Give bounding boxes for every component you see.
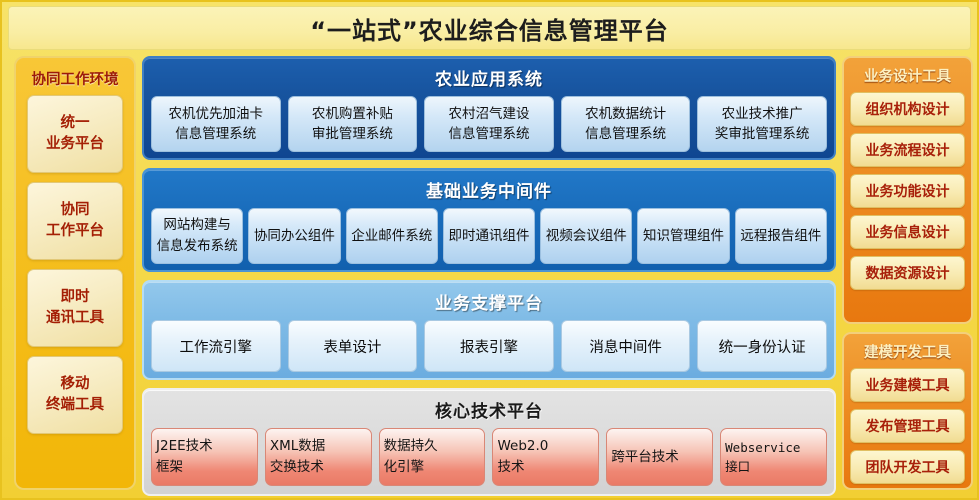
- layer-item-unified-identity-auth[interactable]: 统一身份认证: [697, 320, 827, 372]
- right-group-title: 建模开发工具: [850, 337, 965, 368]
- right-item-label: 数据资源设计: [866, 263, 950, 283]
- sidebar-item-mobile-terminal-tool[interactable]: 移动 终端工具: [27, 356, 123, 434]
- item-label-line1: 数据持久: [384, 436, 481, 457]
- layer-item-workflow-engine[interactable]: 工作流引擎: [151, 320, 281, 372]
- layer-item-tech-extension-award-system[interactable]: 农业技术推广 奖审批管理系统: [697, 96, 827, 152]
- item-label-line1: 农机优先加油卡: [169, 104, 264, 124]
- item-label-line1: 远程报告组件: [740, 226, 821, 247]
- item-label: 工作流引擎: [180, 336, 253, 357]
- sidebar-item-label-line1: 协同: [61, 200, 90, 221]
- sidebar-item-label-line2: 工作平台: [46, 221, 104, 242]
- layer-item-enterprise-mail-system[interactable]: 企业邮件系统: [346, 208, 438, 264]
- layer-title: 业务支撑平台: [151, 285, 827, 320]
- item-label-line1: 协同办公组件: [254, 226, 335, 247]
- sidebar-item-label-line1: 即时: [61, 287, 90, 308]
- item-label-line1: 网站构建与: [163, 215, 231, 236]
- item-label: 消息中间件: [589, 336, 662, 357]
- right-item-data-resource-design[interactable]: 数据资源设计: [850, 256, 965, 290]
- right-sidebar: 业务设计工具 组织机构设计 业务流程设计 业务功能设计 业务信息设计 数据资源设…: [842, 56, 973, 490]
- layer-item-data-persistence-engine[interactable]: 数据持久 化引擎: [379, 428, 486, 486]
- item-label-line1: 农机数据统计: [585, 104, 666, 124]
- left-sidebar-collaborative-environment: 协同工作环境 统一 业务平台 协同 工作平台 即时 通讯工具 移动 终端工具: [14, 56, 136, 490]
- right-group-title: 业务设计工具: [850, 61, 965, 92]
- layer-item-cross-platform-technology[interactable]: 跨平台技术: [606, 428, 713, 486]
- item-label-line1: 视频会议组件: [546, 226, 627, 247]
- layer-item-web20-technology[interactable]: Web2.0 技术: [492, 428, 599, 486]
- layer-agriculture-application-systems: 农业应用系统 农机优先加油卡 信息管理系统 农机购置补贴 审批管理系统 农村沼气…: [142, 56, 836, 160]
- item-label-line1: J2EE技术: [156, 436, 253, 457]
- layer-title: 农业应用系统: [151, 61, 827, 96]
- sidebar-item-label-line2: 通讯工具: [46, 308, 104, 329]
- item-label-line1: 即时通讯组件: [448, 226, 529, 247]
- right-item-org-structure-design[interactable]: 组织机构设计: [850, 92, 965, 126]
- item-label-line2: 信息发布系统: [157, 236, 238, 257]
- right-item-label: 团队开发工具: [866, 457, 950, 477]
- right-item-business-process-design[interactable]: 业务流程设计: [850, 133, 965, 167]
- sidebar-item-unified-business-platform[interactable]: 统一 业务平台: [27, 95, 123, 173]
- item-label-line2: 框架: [156, 457, 253, 478]
- item-label-line2: 信息管理系统: [448, 124, 529, 144]
- item-label-line2: 信息管理系统: [585, 124, 666, 144]
- item-label-line1: 知识管理组件: [643, 226, 724, 247]
- item-label-line2: 信息管理系统: [175, 124, 256, 144]
- item-label-line1: XML数据: [270, 436, 367, 457]
- diagram-root: “一站式”农业综合信息管理平台 协同工作环境 统一 业务平台 协同 工作平台 即…: [0, 0, 979, 500]
- right-item-label: 业务功能设计: [866, 181, 950, 201]
- right-item-label: 组织机构设计: [866, 99, 950, 119]
- layer-basic-business-middleware: 基础业务中间件 网站构建与 信息发布系统 协同办公组件 企业邮件系统 即时通讯组…: [142, 168, 836, 272]
- sidebar-item-label-line2: 业务平台: [46, 134, 104, 155]
- layer-item-purchase-subsidy-system[interactable]: 农机购置补贴 审批管理系统: [288, 96, 418, 152]
- left-sidebar-title: 协同工作环境: [24, 64, 126, 95]
- layer-item-rural-biogas-system[interactable]: 农村沼气建设 信息管理系统: [424, 96, 554, 152]
- right-item-label: 业务流程设计: [866, 140, 950, 160]
- item-label-line1: Webservice: [725, 438, 822, 457]
- item-label: 表单设计: [323, 336, 381, 357]
- layer-item-form-designer[interactable]: 表单设计: [288, 320, 418, 372]
- page-title-bar: “一站式”农业综合信息管理平台: [8, 6, 971, 50]
- right-group-business-design-tools: 业务设计工具 组织机构设计 业务流程设计 业务功能设计 业务信息设计 数据资源设…: [842, 56, 973, 324]
- item-label-line2: 技术: [497, 457, 594, 478]
- item-label: 统一身份认证: [719, 336, 806, 357]
- item-label-line2: 审批管理系统: [312, 124, 393, 144]
- item-label-line2: 奖审批管理系统: [715, 124, 810, 144]
- layer-title: 核心技术平台: [151, 393, 827, 428]
- layer-item-collaborative-office-component[interactable]: 协同办公组件: [248, 208, 340, 264]
- layer-item-website-build-publish[interactable]: 网站构建与 信息发布系统: [151, 208, 243, 264]
- layer-items-row: 农机优先加油卡 信息管理系统 农机购置补贴 审批管理系统 农村沼气建设 信息管理…: [151, 96, 827, 152]
- right-item-team-development-tool[interactable]: 团队开发工具: [850, 450, 965, 484]
- item-label-line1: 农业技术推广: [722, 104, 803, 124]
- layer-items-row: 网站构建与 信息发布系统 协同办公组件 企业邮件系统 即时通讯组件 视频会议组件…: [151, 208, 827, 264]
- layer-items-row: 工作流引擎 表单设计 报表引擎 消息中间件 统一身份认证: [151, 320, 827, 372]
- right-item-business-modeling-tool[interactable]: 业务建模工具: [850, 368, 965, 402]
- layer-item-webservice-interface[interactable]: Webservice 接口: [720, 428, 827, 486]
- right-item-label: 业务信息设计: [866, 222, 950, 242]
- layer-items-row: J2EE技术 框架 XML数据 交换技术 数据持久 化引擎 Web2.0 技术 …: [151, 428, 827, 486]
- right-item-business-function-design[interactable]: 业务功能设计: [850, 174, 965, 208]
- right-item-label: 发布管理工具: [866, 416, 950, 436]
- right-item-release-management-tool[interactable]: 发布管理工具: [850, 409, 965, 443]
- right-item-business-information-design[interactable]: 业务信息设计: [850, 215, 965, 249]
- layer-item-message-middleware[interactable]: 消息中间件: [561, 320, 691, 372]
- item-label-line1: 农机购置补贴: [312, 104, 393, 124]
- sidebar-item-label-line1: 移动: [61, 374, 90, 395]
- page-title: “一站式”农业综合信息管理平台: [310, 11, 669, 46]
- item-label-line1: Web2.0: [497, 436, 594, 457]
- sidebar-item-collaborative-work-platform[interactable]: 协同 工作平台: [27, 182, 123, 260]
- layer-core-technology-platform: 核心技术平台 J2EE技术 框架 XML数据 交换技术 数据持久 化引擎 Web…: [142, 388, 836, 496]
- item-label-line2: 接口: [725, 457, 822, 476]
- item-label-line2: 化引擎: [384, 457, 481, 478]
- layer-item-fuel-card-system[interactable]: 农机优先加油卡 信息管理系统: [151, 96, 281, 152]
- sidebar-item-instant-messaging-tool[interactable]: 即时 通讯工具: [27, 269, 123, 347]
- item-label-line1: 企业邮件系统: [351, 226, 432, 247]
- layer-stack: 农业应用系统 农机优先加油卡 信息管理系统 农机购置补贴 审批管理系统 农村沼气…: [142, 56, 836, 492]
- layer-item-xml-data-exchange[interactable]: XML数据 交换技术: [265, 428, 372, 486]
- right-group-modeling-development-tools: 建模开发工具 业务建模工具 发布管理工具 团队开发工具: [842, 332, 973, 490]
- item-label-line1: 跨平台技术: [611, 447, 708, 468]
- layer-item-instant-messaging-component[interactable]: 即时通讯组件: [443, 208, 535, 264]
- layer-item-remote-reporting-component[interactable]: 远程报告组件: [735, 208, 827, 264]
- item-label: 报表引擎: [460, 336, 518, 357]
- sidebar-item-label-line2: 终端工具: [46, 395, 104, 416]
- layer-business-support-platform: 业务支撑平台 工作流引擎 表单设计 报表引擎 消息中间件 统一身份认证: [142, 280, 836, 380]
- item-label-line1: 农村沼气建设: [448, 104, 529, 124]
- item-label-line2: 交换技术: [270, 457, 367, 478]
- right-item-label: 业务建模工具: [866, 375, 950, 395]
- layer-item-video-conference-component[interactable]: 视频会议组件: [540, 208, 632, 264]
- layer-item-machinery-statistics-system[interactable]: 农机数据统计 信息管理系统: [561, 96, 691, 152]
- sidebar-item-label-line1: 统一: [61, 113, 90, 134]
- layer-item-knowledge-management-component[interactable]: 知识管理组件: [637, 208, 729, 264]
- layer-item-report-engine[interactable]: 报表引擎: [424, 320, 554, 372]
- layer-item-j2ee-framework[interactable]: J2EE技术 框架: [151, 428, 258, 486]
- layer-title: 基础业务中间件: [151, 173, 827, 208]
